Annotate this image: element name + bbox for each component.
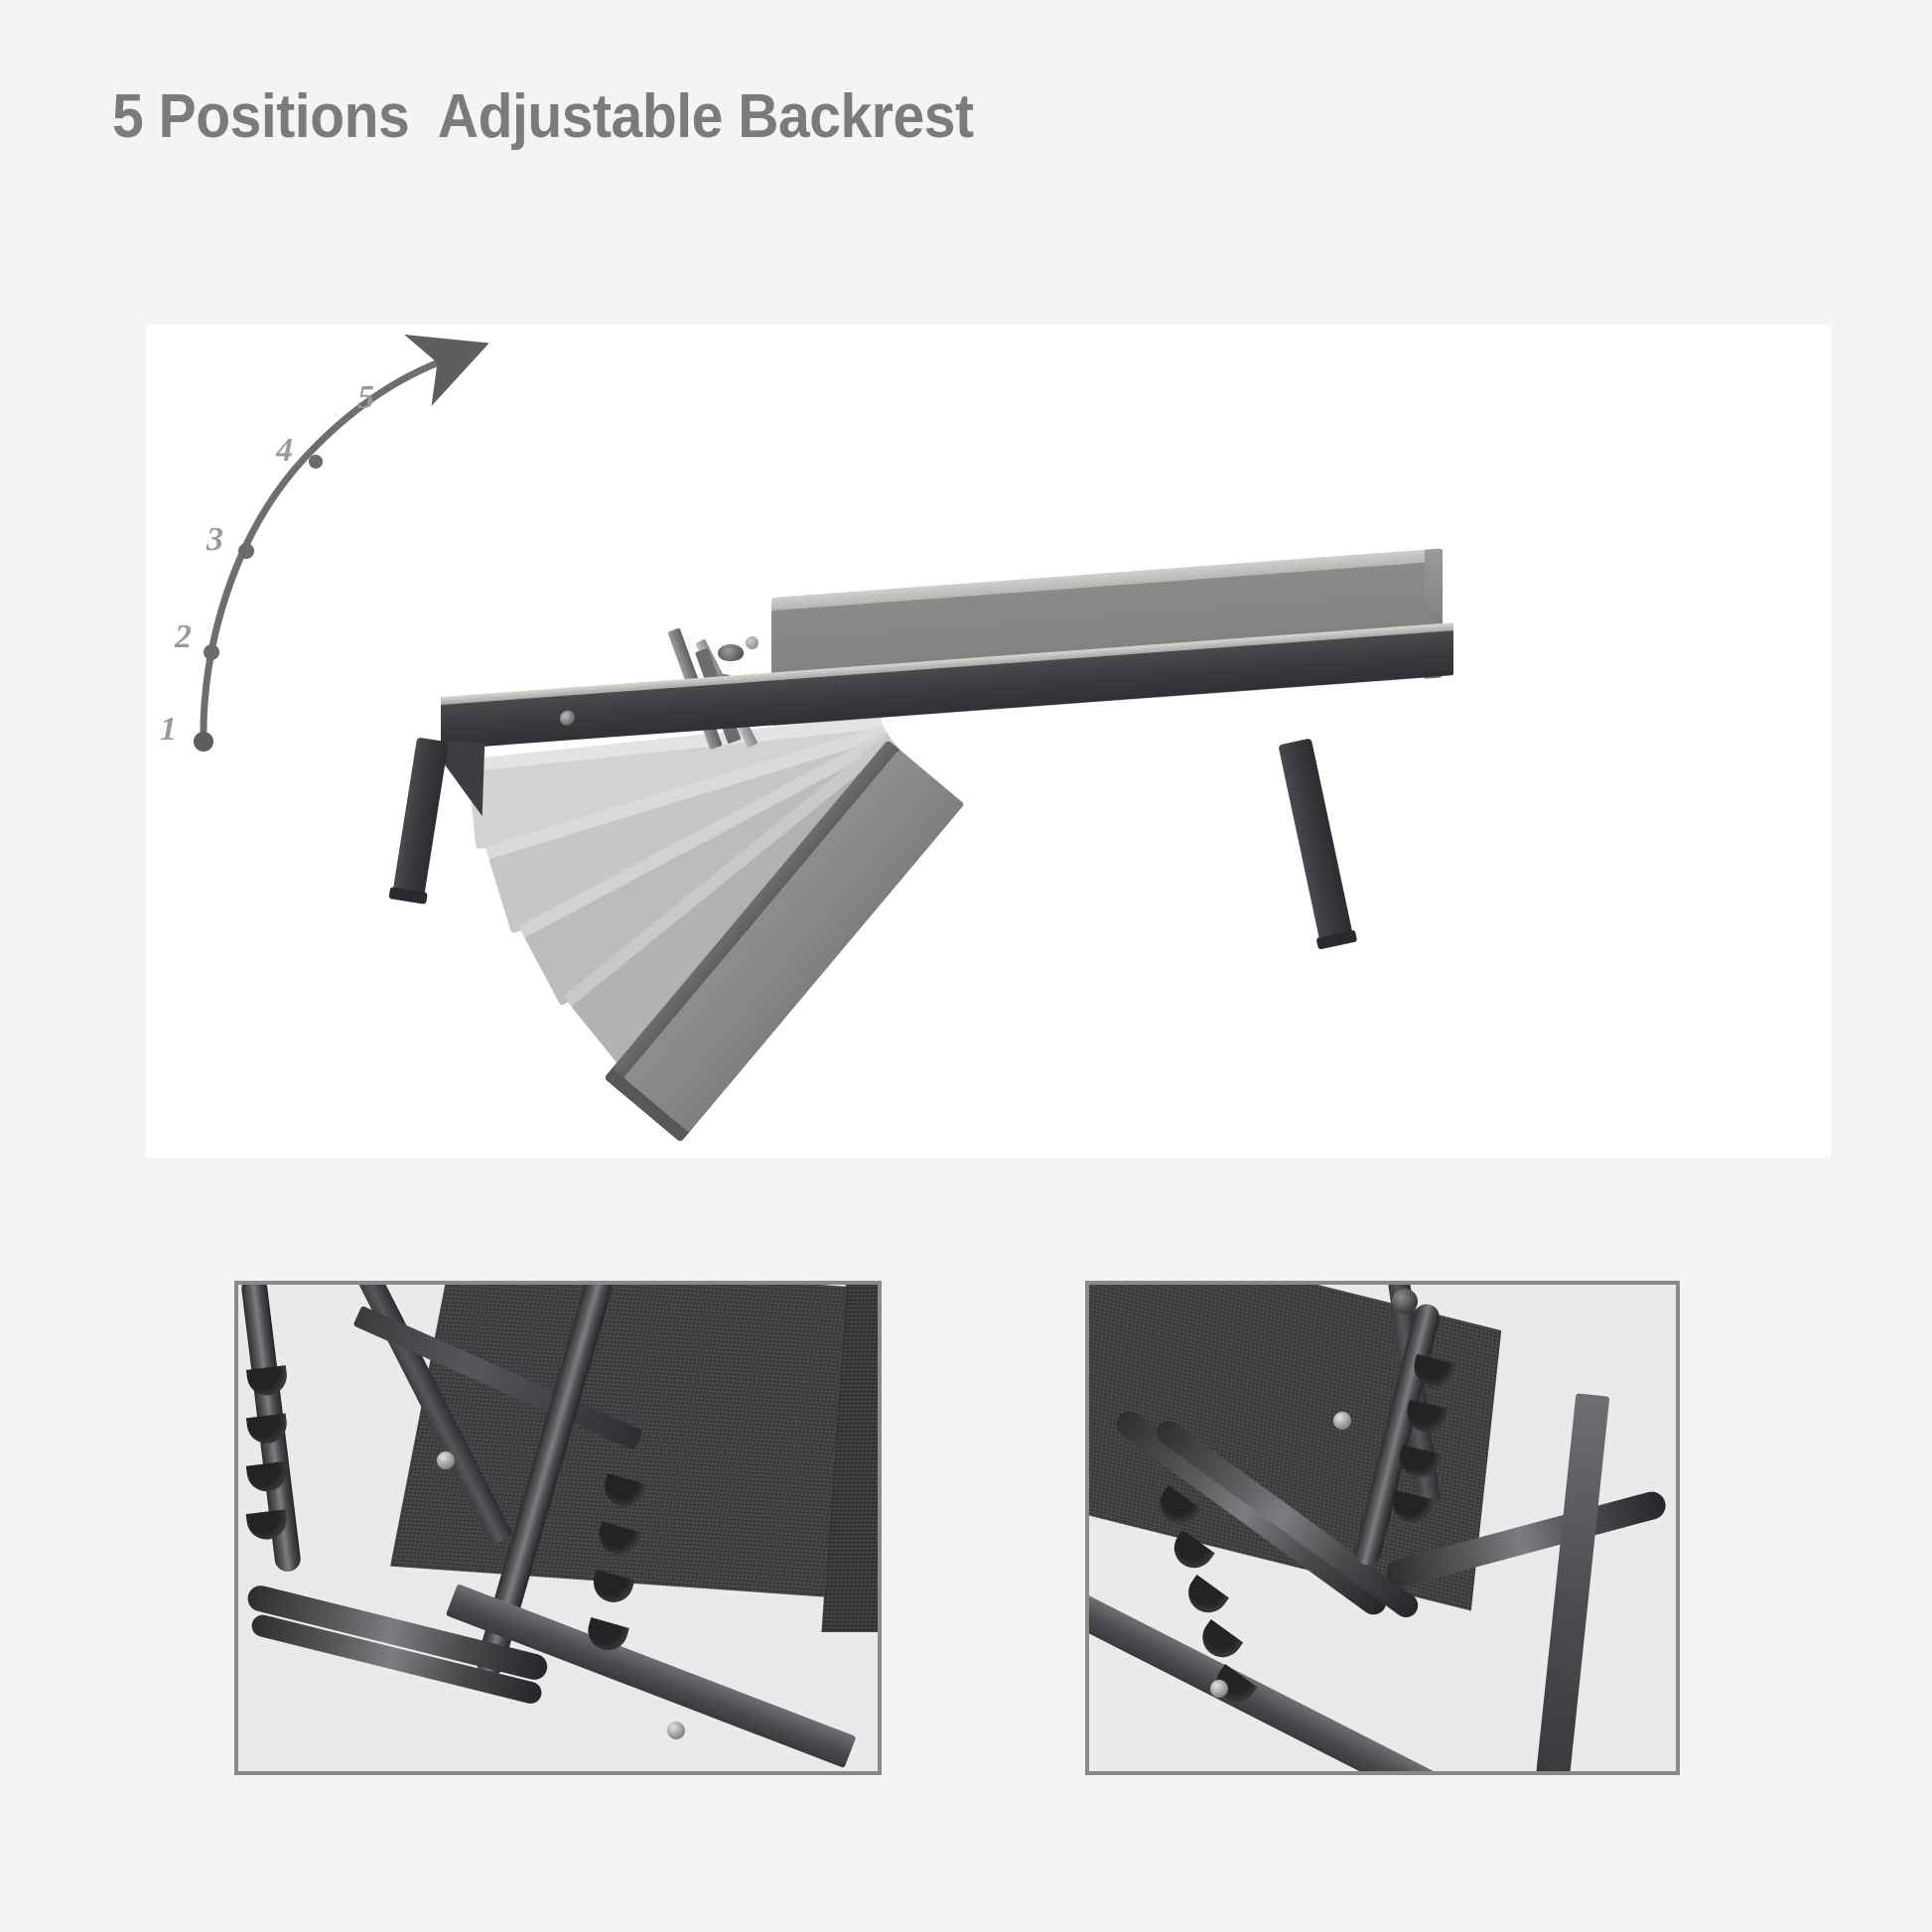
seat-top-edge: [771, 550, 1427, 611]
seat-frame-rail-side: [1536, 1393, 1610, 1775]
photo-canvas: [238, 1285, 878, 1771]
rear-leg: [1278, 738, 1353, 944]
detail-photo-ratchet-mechanism-right: [1085, 1281, 1680, 1775]
leg-foot-cap: [388, 887, 427, 904]
leg-foot-cap: [1316, 930, 1358, 950]
frame-bolt: [560, 710, 575, 726]
photo-canvas: [1089, 1285, 1676, 1771]
seat-frame-rail: [1085, 1585, 1439, 1775]
detail-photo-ratchet-mechanism-left: [234, 1281, 882, 1775]
front-leg: [392, 737, 449, 898]
frame-rivet: [1333, 1412, 1351, 1430]
ratchet-pivot-pin: [746, 636, 759, 649]
page-title: 5 Positions Adjustable Backrest: [112, 81, 974, 152]
frame-rivet: [1210, 1680, 1228, 1698]
ratchet-tooth: [246, 1365, 289, 1398]
ratchet-tooth: [1180, 1575, 1229, 1620]
frame-rivet: [437, 1451, 455, 1469]
ratchet-notch: [718, 644, 744, 661]
chaise-lounge-illustration: [146, 325, 1831, 1159]
hero-diagram-panel: 1 2 3 4 5: [146, 325, 1831, 1159]
frame-rivet: [667, 1722, 685, 1739]
